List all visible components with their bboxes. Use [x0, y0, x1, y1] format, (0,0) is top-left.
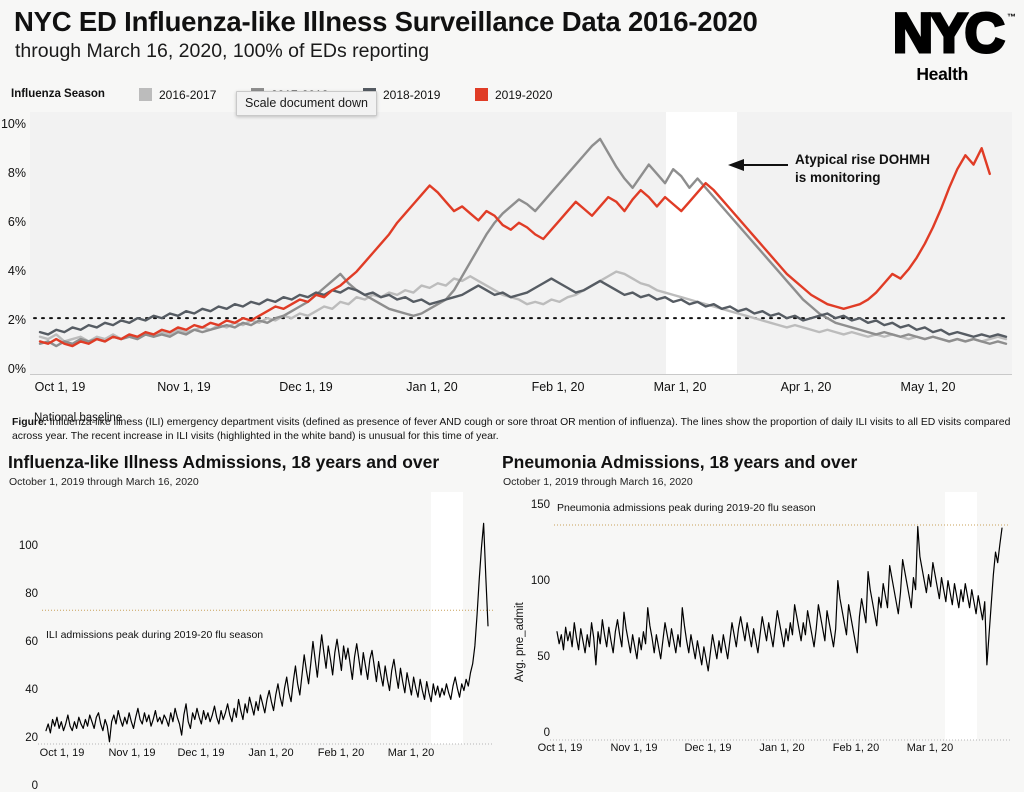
x-tick-label: Mar 1, 20 [640, 380, 720, 394]
page-subtitle: through March 16, 2020, 100% of EDs repo… [15, 40, 429, 63]
ili-admissions-title: Influenza-like Illness Admissions, 18 ye… [8, 452, 439, 473]
y-tick-label: 100 [520, 575, 550, 587]
x-tick-label: Oct 1, 19 [22, 747, 102, 759]
y-tick-label: 0 [8, 780, 38, 792]
x-tick-label: Feb 1, 20 [816, 742, 896, 754]
legend-title: Influenza Season [11, 88, 105, 100]
pneumonia-y-axis-title: Avg. pne_admit [514, 602, 526, 682]
x-tick-label: Nov 1, 19 [594, 742, 674, 754]
x-tick-label: Nov 1, 19 [144, 380, 224, 394]
x-axis-line [30, 374, 1012, 375]
y-tick-label: 50 [520, 651, 550, 663]
x-tick-label: Mar 1, 20 [371, 747, 451, 759]
legend-swatch-icon [139, 88, 152, 101]
y-tick-label: 100 [8, 540, 38, 552]
y-tick-label: 60 [8, 636, 38, 648]
nyc-logo-wordmark: NYC [893, 6, 1002, 60]
atypical-rise-annotation-line1: Atypical rise DOHMH [795, 151, 930, 168]
x-tick-label: Jan 1, 20 [392, 380, 472, 394]
legend-swatch-icon [475, 88, 488, 101]
legend-item-label: 2019-2020 [495, 88, 552, 102]
nyc-health-logo: NYC ™ Health [838, 6, 1016, 86]
x-tick-label: Oct 1, 19 [20, 380, 100, 394]
ili-admissions-subtitle: October 1, 2019 through March 16, 2020 [9, 476, 199, 488]
x-tick-label: May 1, 20 [888, 380, 968, 394]
y-tick-label: 0 [520, 727, 550, 739]
x-tick-label: Nov 1, 19 [92, 747, 172, 759]
page-title: NYC ED Influenza-like Illness Surveillan… [14, 6, 758, 38]
x-tick-label: Oct 1, 19 [520, 742, 600, 754]
y-tick-label: 80 [8, 588, 38, 600]
ili-peak-annotation: ILI admissions peak during 2019-20 flu s… [46, 629, 263, 641]
ili-admissions-chart: Influenza-like Illness Admissions, 18 ye… [8, 452, 502, 782]
trademark-icon: ™ [1007, 12, 1016, 22]
x-tick-label: Mar 1, 20 [890, 742, 970, 754]
x-tick-label: Jan 1, 20 [742, 742, 822, 754]
legend-item-label: 2018-2019 [383, 88, 440, 102]
y-tick-label: 20 [8, 732, 38, 744]
pneumonia-admissions-title: Pneumonia Admissions, 18 years and over [502, 452, 857, 473]
x-tick-label: Dec 1, 19 [161, 747, 241, 759]
health-logo-word: Health [916, 64, 968, 85]
figure-caption-body: Influenza-like illness (ILI) emergency d… [12, 417, 1010, 442]
figure-caption-lead: Figure. [12, 417, 47, 428]
left-arrow-icon [728, 156, 790, 174]
legend-item-label: 2016-2017 [159, 88, 216, 102]
page-header: NYC ED Influenza-like Illness Surveillan… [0, 0, 1024, 110]
pneumonia-peak-annotation: Pneumonia admissions peak during 2019-20… [557, 502, 816, 514]
atypical-rise-annotation-line2: is monitoring [795, 169, 881, 186]
figure-caption: Figure. Influenza-like illness (ILI) eme… [12, 416, 1012, 444]
y-tick-label: 150 [520, 499, 550, 511]
y-tick-label: 40 [8, 684, 38, 696]
scale-document-down-tooltip: Scale document down [236, 91, 377, 116]
x-tick-label: Jan 1, 20 [231, 747, 311, 759]
x-tick-label: Dec 1, 19 [668, 742, 748, 754]
x-tick-label: Feb 1, 20 [518, 380, 598, 394]
ili-surveillance-chart: 10% 8% 6% 4% 2% 0% National baseline Oct… [0, 112, 1024, 402]
pneumonia-admissions-chart: Pneumonia Admissions, 18 years and over … [502, 452, 1024, 782]
pneumonia-admissions-subtitle: October 1, 2019 through March 16, 2020 [503, 476, 693, 488]
x-tick-label: Dec 1, 19 [266, 380, 346, 394]
x-tick-label: Apr 1, 20 [766, 380, 846, 394]
x-tick-label: Feb 1, 20 [301, 747, 381, 759]
